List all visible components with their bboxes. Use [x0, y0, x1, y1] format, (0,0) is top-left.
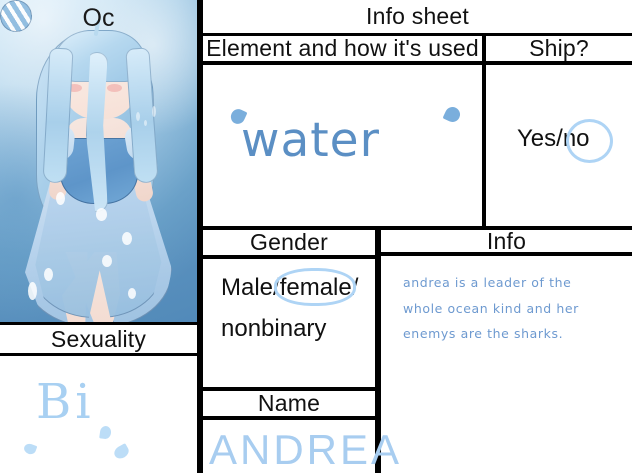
- ship-header: Ship?: [483, 33, 632, 64]
- name-value: ANDREA: [209, 426, 402, 473]
- name-header: Name: [200, 388, 378, 419]
- decor-drop: [443, 105, 463, 125]
- ship-value-cell[interactable]: Yes/no: [483, 62, 632, 229]
- skirt-dot: [128, 288, 136, 299]
- ship-value: Yes/no: [517, 125, 590, 153]
- gender-value-cell[interactable]: Male/female/ nonbinary: [200, 256, 378, 390]
- character-blush-right: [107, 84, 122, 92]
- info-line-1: andrea is a leader of the: [403, 270, 619, 296]
- info-text: andrea is a leader of the whole ocean ki…: [403, 270, 619, 347]
- element-header: Element and how it's used: [200, 33, 485, 64]
- sexuality-value: Bi: [36, 374, 95, 430]
- bubble: [144, 120, 147, 126]
- decor-drop: [99, 425, 112, 439]
- sexuality-value-cell[interactable]: Bi: [0, 353, 200, 473]
- bubble: [152, 106, 156, 117]
- sexuality-header: Sexuality: [0, 322, 200, 356]
- info-sheet-title: Info sheet: [200, 0, 632, 36]
- oc-label: Oc: [0, 4, 197, 33]
- info-line-3: enemys are the sharks.: [403, 321, 619, 347]
- element-value-cell[interactable]: water: [200, 62, 485, 229]
- name-value-cell[interactable]: ANDREA: [200, 417, 378, 473]
- skirt-dot: [102, 255, 112, 267]
- gender-header: Gender: [200, 227, 378, 258]
- skirt-dot: [56, 192, 65, 205]
- info-value-cell[interactable]: andrea is a leader of the whole ocean ki…: [378, 253, 632, 473]
- info-line-2: whole ocean kind and her: [403, 296, 619, 322]
- gender-value-line2: nonbinary: [221, 315, 326, 343]
- decor-drop: [112, 443, 131, 461]
- oc-info-sheet: Oc Sexua: [0, 0, 632, 473]
- skirt-dot: [122, 232, 132, 245]
- info-header: Info: [378, 227, 632, 255]
- character-illustration-panel: Oc: [0, 0, 200, 325]
- decor-drop: [23, 442, 38, 456]
- gender-value-line1: Male/female/: [221, 274, 358, 302]
- skirt-dot: [28, 282, 37, 300]
- skirt-dot: [96, 208, 107, 221]
- element-value: water: [241, 113, 380, 168]
- bubble: [136, 112, 140, 121]
- skirt-dot: [44, 268, 53, 281]
